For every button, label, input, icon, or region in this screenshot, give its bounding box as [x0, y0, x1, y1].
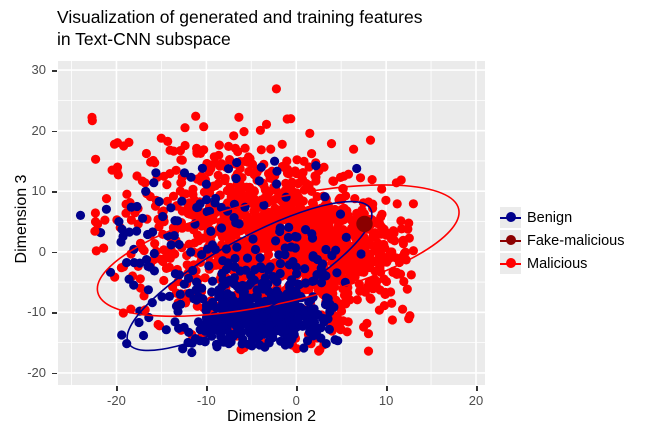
data-point-benign	[300, 264, 309, 273]
data-point-benign	[173, 307, 182, 316]
data-point-malicious	[404, 219, 413, 228]
data-point-malicious	[405, 311, 414, 320]
legend-label: Benign	[527, 210, 572, 226]
data-point-benign	[202, 303, 211, 312]
data-point-malicious	[377, 210, 386, 219]
data-point-benign	[166, 203, 175, 212]
data-point-malicious	[407, 270, 416, 279]
data-point-fake-malicious	[356, 216, 372, 232]
data-point-benign	[255, 176, 264, 185]
y-tick-mark	[52, 312, 57, 314]
data-point-benign	[258, 264, 267, 273]
data-point-benign	[309, 251, 318, 260]
data-point-benign	[317, 278, 326, 287]
data-point-benign	[238, 339, 247, 348]
data-point-benign	[284, 223, 293, 232]
data-point-malicious	[388, 315, 397, 324]
data-point-malicious	[336, 324, 345, 333]
data-point-benign	[219, 301, 228, 310]
data-point-benign	[287, 275, 296, 284]
data-point-benign	[175, 240, 184, 249]
data-point-malicious	[409, 199, 418, 208]
data-point-benign	[256, 253, 265, 262]
data-point-malicious	[211, 158, 220, 167]
data-point-malicious	[381, 196, 390, 205]
data-point-malicious	[314, 347, 323, 356]
data-point-benign	[281, 340, 290, 349]
data-point-benign	[202, 180, 211, 189]
data-point-malicious	[91, 155, 100, 164]
data-point-malicious	[356, 173, 365, 182]
data-point-benign	[192, 295, 201, 304]
data-point-benign	[293, 303, 302, 312]
data-point-malicious	[114, 170, 123, 179]
data-point-benign	[303, 336, 312, 345]
data-point-benign	[316, 334, 325, 343]
y-tick-mark	[52, 70, 57, 72]
data-point-malicious	[393, 199, 402, 208]
data-point-malicious	[209, 215, 218, 224]
data-point-malicious	[110, 140, 119, 149]
x-tick-mark	[476, 386, 478, 391]
y-tick-mark	[52, 373, 57, 375]
data-point-malicious	[334, 229, 343, 238]
data-point-malicious	[162, 180, 171, 189]
data-point-benign	[261, 273, 270, 282]
data-point-benign	[141, 187, 150, 196]
data-point-malicious	[239, 127, 248, 136]
data-point-malicious	[88, 116, 97, 125]
data-point-malicious	[215, 141, 224, 150]
data-point-benign	[243, 254, 252, 263]
data-point-malicious	[307, 149, 316, 158]
data-point-benign	[187, 348, 196, 357]
data-point-benign	[194, 317, 203, 326]
x-tick-mark	[386, 386, 388, 391]
data-point-benign	[230, 254, 239, 263]
x-tick-label: -10	[181, 393, 231, 408]
data-point-benign	[259, 284, 268, 293]
data-point-benign	[257, 163, 266, 172]
data-point-malicious	[374, 239, 383, 248]
data-point-malicious	[100, 216, 109, 225]
data-point-benign	[138, 214, 147, 223]
data-point-benign	[102, 205, 111, 214]
data-point-malicious	[355, 262, 364, 271]
data-point-malicious	[234, 190, 243, 199]
data-point-malicious	[162, 264, 171, 273]
data-point-benign	[218, 256, 227, 265]
data-point-malicious	[282, 157, 291, 166]
data-point-malicious	[169, 192, 178, 201]
data-point-benign	[291, 243, 300, 252]
data-point-benign	[211, 316, 220, 325]
data-point-malicious	[377, 222, 386, 231]
legend-marker-icon	[500, 207, 521, 228]
data-point-malicious	[399, 239, 408, 248]
data-point-benign	[272, 179, 281, 188]
data-point-malicious	[286, 182, 295, 191]
data-point-benign	[224, 164, 233, 173]
legend-item-benign[interactable]: Benign	[500, 206, 625, 229]
data-point-benign	[162, 325, 171, 334]
data-point-malicious	[370, 283, 379, 292]
data-point-malicious	[297, 197, 306, 206]
data-point-malicious	[191, 112, 200, 121]
data-point-benign	[176, 290, 185, 299]
data-point-malicious	[380, 290, 389, 299]
x-axis-title: Dimension 2	[58, 408, 485, 426]
data-point-malicious	[409, 246, 418, 255]
data-point-benign	[308, 306, 317, 315]
data-point-benign	[180, 168, 189, 177]
data-point-malicious	[346, 245, 355, 254]
y-tick-mark	[52, 131, 57, 133]
data-point-benign	[303, 318, 312, 327]
x-tick-mark	[116, 386, 118, 391]
data-point-benign	[327, 251, 336, 260]
data-point-malicious	[389, 226, 398, 235]
data-point-benign	[333, 336, 342, 345]
legend-label: Malicious	[527, 256, 587, 272]
data-point-malicious	[154, 320, 163, 329]
data-point-benign	[242, 294, 251, 303]
data-point-benign	[271, 236, 280, 245]
data-point-benign	[292, 232, 301, 241]
data-point-malicious	[359, 322, 368, 331]
data-point-malicious	[391, 253, 400, 262]
data-point-malicious	[298, 176, 307, 185]
data-point-malicious	[169, 147, 178, 156]
data-point-malicious	[344, 317, 353, 326]
y-tick-mark	[52, 191, 57, 193]
data-point-benign	[231, 218, 240, 227]
data-point-benign	[180, 280, 189, 289]
data-point-malicious	[113, 163, 122, 172]
legend-label: Fake-malicious	[527, 233, 625, 249]
data-point-benign	[173, 216, 182, 225]
data-point-benign	[322, 314, 331, 323]
data-point-benign	[165, 292, 174, 301]
data-point-malicious	[172, 166, 181, 175]
data-point-benign	[234, 329, 243, 338]
data-point-benign	[325, 325, 334, 334]
data-point-benign	[280, 250, 289, 259]
data-point-malicious	[90, 227, 99, 236]
data-point-benign	[116, 237, 125, 246]
data-point-malicious	[365, 250, 374, 259]
data-point-malicious	[92, 246, 101, 255]
data-point-malicious	[176, 155, 185, 164]
data-point-benign	[265, 337, 274, 346]
data-point-malicious	[146, 157, 155, 166]
data-point-benign	[144, 285, 153, 294]
data-point-malicious	[150, 239, 159, 248]
data-point-benign	[127, 203, 136, 212]
data-point-benign	[192, 278, 201, 287]
data-point-malicious	[382, 277, 391, 286]
data-point-benign	[158, 212, 167, 221]
data-point-malicious	[185, 210, 194, 219]
data-point-malicious	[278, 140, 287, 149]
plot-panel	[58, 61, 485, 385]
data-point-benign	[246, 271, 255, 280]
data-point-malicious	[122, 190, 131, 199]
data-point-benign	[150, 249, 159, 258]
page-title: Visualization of generated and training …	[57, 6, 487, 50]
data-point-malicious	[159, 276, 168, 285]
data-point-benign	[278, 321, 287, 330]
data-point-malicious	[272, 84, 281, 93]
legend-item-fake-malicious[interactable]: Fake-malicious	[500, 229, 625, 252]
x-tick-mark	[296, 386, 298, 391]
data-point-benign	[232, 243, 241, 252]
x-tick-label: 10	[361, 393, 411, 408]
data-point-malicious	[231, 144, 240, 153]
chart-container: Visualization of generated and training …	[0, 0, 663, 435]
legend-marker-icon	[500, 230, 521, 251]
data-point-benign	[155, 197, 164, 206]
data-point-benign	[143, 262, 152, 271]
data-point-benign	[236, 266, 245, 275]
data-point-malicious	[387, 234, 396, 243]
data-point-benign	[308, 234, 317, 243]
data-point-benign	[261, 297, 270, 306]
data-point-benign	[248, 234, 257, 243]
data-point-benign	[177, 197, 186, 206]
data-point-malicious	[372, 231, 381, 240]
data-point-malicious	[138, 177, 147, 186]
data-point-malicious	[305, 129, 314, 138]
data-point-malicious	[180, 123, 189, 132]
data-point-benign	[217, 269, 226, 278]
data-point-malicious	[291, 166, 300, 175]
data-point-benign	[357, 249, 366, 258]
chart-legend: BenignFake-maliciousMalicious	[500, 206, 625, 275]
data-point-benign	[294, 314, 303, 323]
data-point-benign	[135, 259, 144, 268]
data-point-benign	[193, 203, 202, 212]
data-point-benign	[76, 211, 85, 220]
data-point-benign	[232, 158, 241, 167]
data-point-benign	[122, 258, 131, 267]
data-point-malicious	[199, 122, 208, 131]
data-point-benign	[342, 233, 351, 242]
x-tick-label: 0	[271, 393, 321, 408]
data-point-benign	[204, 261, 213, 270]
data-point-malicious	[377, 184, 386, 193]
data-point-malicious	[349, 145, 358, 154]
data-point-benign	[275, 227, 284, 236]
data-point-benign	[272, 167, 281, 176]
data-point-benign	[207, 287, 216, 296]
data-point-benign	[251, 245, 260, 254]
data-point-malicious	[91, 217, 100, 226]
data-point-benign	[139, 331, 148, 340]
data-point-malicious	[257, 145, 266, 154]
data-point-malicious	[366, 136, 375, 145]
data-point-malicious	[142, 149, 151, 158]
data-point-malicious	[364, 347, 373, 356]
data-point-benign	[318, 259, 327, 268]
data-point-benign	[208, 277, 217, 286]
data-point-benign	[265, 321, 274, 330]
data-point-malicious	[194, 236, 203, 245]
data-point-benign	[266, 262, 275, 271]
data-point-benign	[202, 195, 211, 204]
data-point-benign	[229, 296, 238, 305]
data-point-malicious	[377, 258, 386, 267]
data-point-malicious	[396, 216, 405, 225]
data-point-benign	[186, 248, 195, 257]
data-point-malicious	[220, 176, 229, 185]
x-tick-label: 20	[451, 393, 501, 408]
data-point-malicious	[266, 145, 275, 154]
x-tick-label: -20	[91, 393, 141, 408]
data-point-benign	[276, 259, 285, 268]
data-point-malicious	[398, 305, 407, 314]
data-point-malicious	[339, 184, 348, 193]
data-point-benign	[167, 240, 176, 249]
scatter-plot-svg	[58, 61, 485, 385]
data-point-benign	[132, 227, 141, 236]
data-point-malicious	[256, 126, 265, 135]
data-point-benign	[232, 174, 241, 183]
data-point-malicious	[234, 113, 243, 122]
data-point-benign	[218, 337, 227, 346]
data-point-malicious	[286, 114, 295, 123]
data-point-malicious	[102, 194, 111, 203]
data-point-benign	[272, 277, 281, 286]
data-point-malicious	[229, 131, 238, 140]
data-point-benign	[149, 178, 158, 187]
data-point-benign	[311, 161, 320, 170]
y-axis-title: Dimension 3	[13, 57, 31, 381]
data-point-malicious	[397, 224, 406, 233]
data-point-benign	[197, 250, 206, 259]
data-point-malicious	[311, 172, 320, 181]
data-point-benign	[352, 164, 361, 173]
data-point-malicious	[368, 175, 377, 184]
data-point-benign	[151, 168, 160, 177]
data-point-malicious	[157, 134, 166, 143]
data-point-malicious	[355, 287, 364, 296]
data-point-benign	[174, 324, 183, 333]
data-point-benign	[229, 279, 238, 288]
data-point-benign	[320, 192, 329, 201]
data-point-benign	[210, 198, 219, 207]
data-point-malicious	[366, 293, 375, 302]
data-point-malicious	[397, 175, 406, 184]
data-point-malicious	[91, 208, 100, 217]
data-point-malicious	[240, 157, 249, 166]
data-point-malicious	[168, 282, 177, 291]
data-point-benign	[281, 193, 290, 202]
legend-marker-icon	[500, 253, 521, 274]
data-point-malicious	[336, 173, 345, 182]
data-point-malicious	[327, 139, 336, 148]
legend-item-malicious[interactable]: Malicious	[500, 252, 625, 275]
data-point-malicious	[245, 189, 254, 198]
data-point-benign	[336, 210, 345, 219]
y-tick-mark	[52, 252, 57, 254]
data-point-malicious	[251, 205, 260, 214]
data-point-malicious	[161, 253, 170, 262]
data-point-benign	[270, 157, 279, 166]
data-point-benign	[143, 230, 152, 239]
data-point-malicious	[344, 170, 353, 179]
data-point-benign	[134, 318, 143, 327]
data-point-benign	[288, 257, 297, 266]
data-point-malicious	[170, 249, 179, 258]
data-point-malicious	[199, 145, 208, 154]
x-tick-mark	[206, 386, 208, 391]
data-point-malicious	[264, 169, 273, 178]
data-point-benign	[117, 330, 126, 339]
data-point-malicious	[197, 172, 206, 181]
data-point-benign	[125, 275, 134, 284]
data-point-malicious	[319, 228, 328, 237]
data-point-benign	[198, 164, 207, 173]
data-point-benign	[332, 268, 341, 277]
data-point-benign	[206, 227, 215, 236]
data-point-malicious	[347, 267, 356, 276]
data-point-benign	[215, 286, 224, 295]
data-point-malicious	[375, 306, 384, 315]
data-point-benign	[217, 223, 226, 232]
